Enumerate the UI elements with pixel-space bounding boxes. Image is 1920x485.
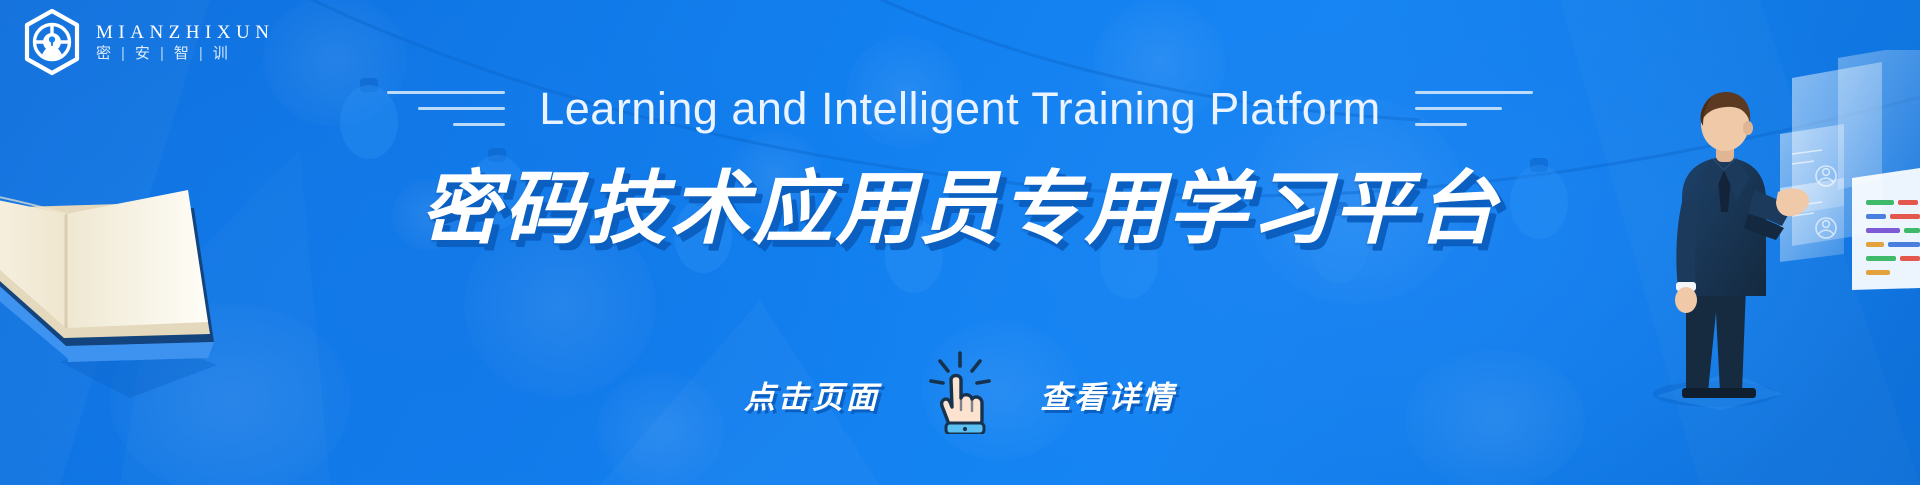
headline-row: Learning and Intelligent Training Platfo… xyxy=(0,86,1920,131)
rule-line xyxy=(1415,123,1467,126)
rule-line xyxy=(387,91,505,94)
decorative-rules-right xyxy=(1415,91,1533,126)
rule-line xyxy=(418,107,505,110)
brand-logo-text: MIANZHIXUN 密 | 安 | 智 | 训 xyxy=(96,21,274,64)
rule-line xyxy=(1415,91,1533,94)
brand-cn-separator-2: | xyxy=(160,45,167,63)
hero-banner: MIANZHIXUN 密 | 安 | 智 | 训 Learning and In… xyxy=(0,0,1920,485)
headline-english: Learning and Intelligent Training Platfo… xyxy=(539,86,1381,131)
brand-logo[interactable]: MIANZHIXUN 密 | 安 | 智 | 训 xyxy=(22,8,274,76)
cta-text-left: 点击页面 xyxy=(744,372,880,417)
brand-cn-char-4: 训 xyxy=(213,45,231,63)
click-hand-cursor-icon[interactable] xyxy=(924,350,996,434)
brand-cn-char-2: 安 xyxy=(135,45,153,63)
brand-name-en: MIANZHIXUN xyxy=(96,23,274,44)
decorative-rules-left xyxy=(387,91,505,126)
page-title: 密码技术应用员专用学习平台 xyxy=(0,164,1920,254)
brand-cn-separator-3: | xyxy=(199,45,206,63)
hexagon-shield-lock-icon xyxy=(22,8,82,76)
rule-line xyxy=(1415,107,1502,110)
cta-row[interactable]: 点击页面 查看详情 xyxy=(0,352,1920,436)
brand-cn-separator-1: | xyxy=(121,45,128,63)
rule-line xyxy=(453,123,505,126)
brand-name-cn: 密 | 安 | 智 | 训 xyxy=(96,45,274,63)
brand-cn-char-3: 智 xyxy=(174,45,192,63)
cta-text-right: 查看详情 xyxy=(1040,372,1176,417)
brand-cn-char-1: 密 xyxy=(96,45,114,63)
